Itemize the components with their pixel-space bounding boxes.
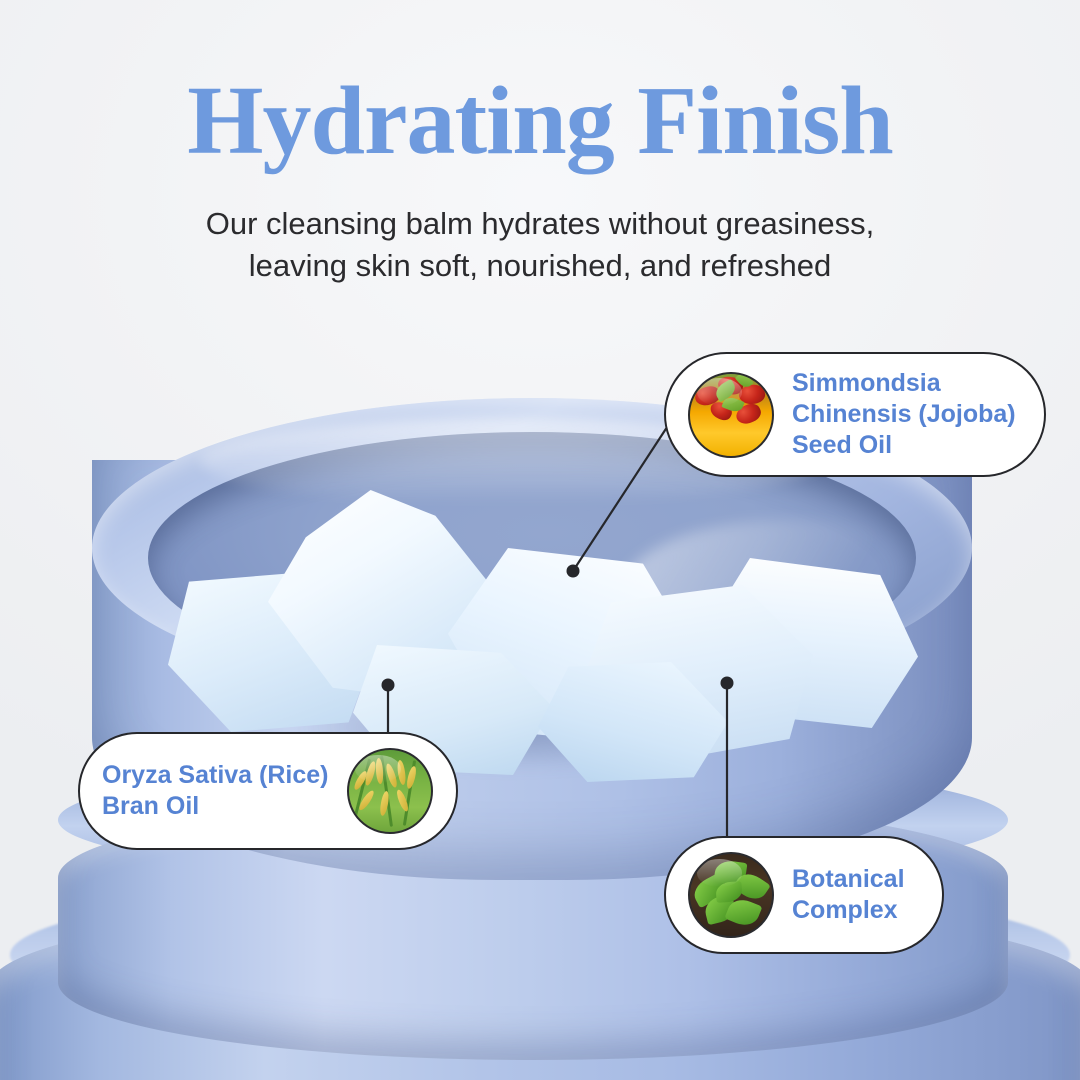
header-block: Hydrating Finish Our cleansing balm hydr… (0, 0, 1080, 287)
page-subtitle: Our cleansing balm hydrates without grea… (0, 203, 1080, 287)
callout-jojoba-label: Simmondsia Chinensis (Jojoba) Seed Oil (792, 368, 1016, 461)
callout-rice-bran[interactable]: Oryza Sativa (Rice) Bran Oil (78, 732, 458, 850)
callout-botanical[interactable]: Botanical Complex (664, 836, 944, 954)
callout-botanical-label: Botanical Complex (792, 864, 905, 926)
callout-rice-bran-label: Oryza Sativa (Rice) Bran Oil (102, 760, 329, 822)
balm-curls (148, 430, 918, 760)
callout-jojoba[interactable]: Simmondsia Chinensis (Jojoba) Seed Oil (664, 352, 1046, 477)
subtitle-line-1: Our cleansing balm hydrates without grea… (0, 203, 1080, 245)
subtitle-line-2: leaving skin soft, nourished, and refres… (0, 245, 1080, 287)
infographic-canvas: Hydrating Finish Our cleansing balm hydr… (0, 0, 1080, 1080)
rice-stalks-icon (347, 748, 433, 834)
jojoba-berries-icon (688, 372, 774, 458)
mint-leaves-icon (688, 852, 774, 938)
page-title: Hydrating Finish (0, 70, 1080, 173)
